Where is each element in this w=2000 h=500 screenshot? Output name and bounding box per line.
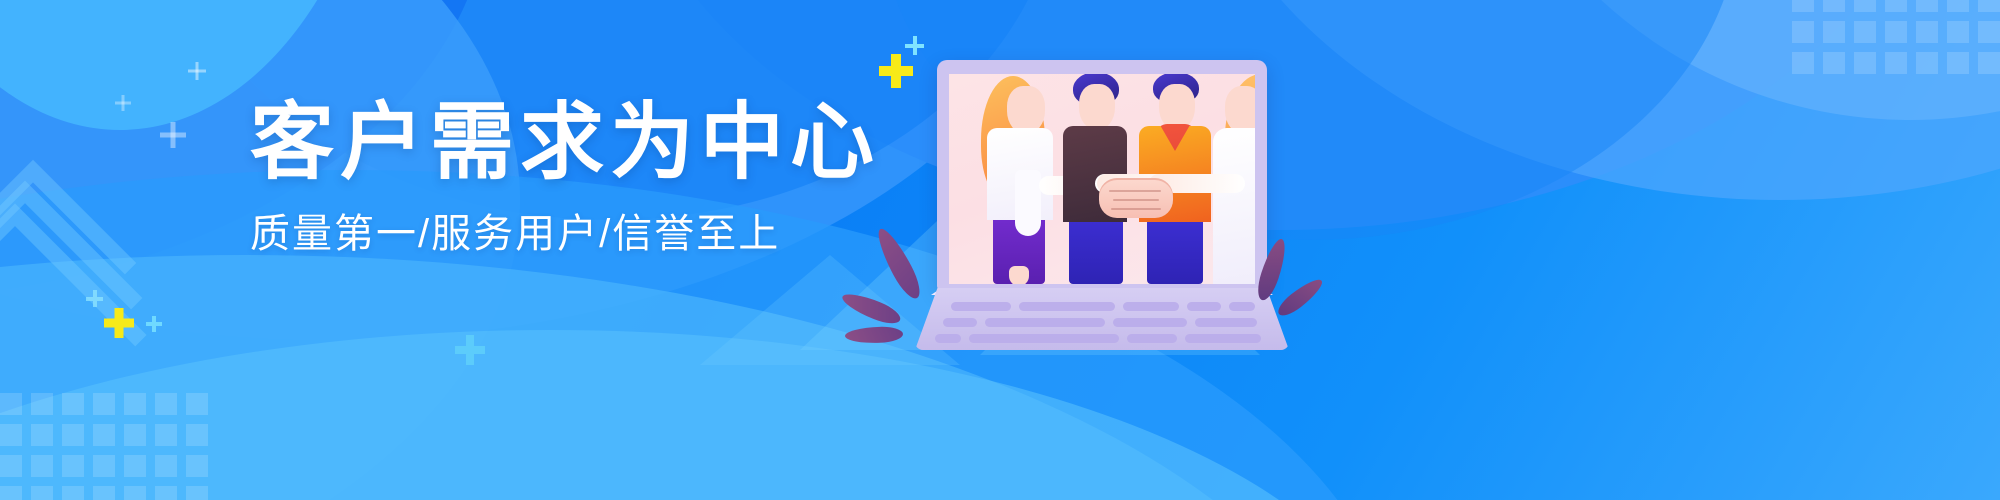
- grid-square: [186, 424, 208, 446]
- grid-square: [155, 486, 177, 500]
- grid-square: [1916, 52, 1938, 74]
- keyboard-key: [1195, 318, 1257, 327]
- banner-headline: 客户需求为中心: [250, 100, 870, 184]
- keyboard-key: [1229, 302, 1255, 311]
- leaf-icon: [845, 326, 904, 344]
- grid-square: [93, 455, 115, 477]
- keyboard-key: [985, 318, 1105, 327]
- grid-square: [1854, 0, 1876, 12]
- grid-square: [62, 393, 84, 415]
- grid-square: [155, 424, 177, 446]
- leaf-icon: [872, 224, 926, 302]
- hand-detail: [1111, 208, 1161, 210]
- grid-square: [62, 486, 84, 500]
- grid-square: [93, 424, 115, 446]
- grid-square: [1947, 0, 1969, 12]
- square-grid-top-right: [1792, 0, 2000, 74]
- person-shirt-tail: [1015, 170, 1041, 236]
- grid-square: [1792, 52, 1814, 74]
- grid-square: [1854, 21, 1876, 43]
- laptop-screen: [949, 74, 1255, 284]
- grid-square: [62, 424, 84, 446]
- keyboard-key: [1187, 302, 1221, 311]
- grid-square: [0, 424, 22, 446]
- grid-square: [1947, 21, 1969, 43]
- grid-square: [93, 486, 115, 500]
- keyboard-key: [1185, 334, 1261, 343]
- laptop-screen-frame: [937, 60, 1267, 290]
- grid-square: [124, 424, 146, 446]
- plus-icon: [879, 54, 913, 88]
- grid-square: [155, 393, 177, 415]
- grid-square: [155, 455, 177, 477]
- grid-square: [186, 455, 208, 477]
- plus-icon: [146, 316, 162, 332]
- keyboard-key: [969, 334, 1119, 343]
- leaf-icon: [1274, 274, 1326, 320]
- plus-icon: [905, 36, 924, 55]
- person-head: [1007, 86, 1045, 134]
- grid-square: [186, 486, 208, 500]
- person-woman-orange-hair: [975, 74, 1063, 284]
- grid-square: [1885, 0, 1907, 12]
- chevron-icon: [0, 181, 142, 416]
- grid-square: [1792, 21, 1814, 43]
- stacked-hands: [1099, 178, 1173, 218]
- keyboard-key: [935, 334, 961, 343]
- grid-square: [31, 455, 53, 477]
- keyboard-key: [943, 318, 977, 327]
- person-woman-blonde-hair: [1203, 74, 1255, 284]
- grid-square: [186, 393, 208, 415]
- person-head: [1079, 84, 1115, 130]
- grid-square: [93, 393, 115, 415]
- grid-square: [124, 486, 146, 500]
- plus-icon: [86, 290, 103, 307]
- hand-detail: [1109, 190, 1161, 192]
- grid-square: [0, 393, 22, 415]
- wave-shape: [0, 330, 1400, 500]
- plus-icon: [115, 95, 131, 111]
- laptop-teamwork-illustration: [915, 60, 1335, 350]
- grid-square: [1947, 52, 1969, 74]
- grid-square: [1792, 0, 1814, 12]
- plus-icon: [104, 308, 134, 338]
- hand-detail: [1113, 199, 1159, 201]
- grid-square: [1885, 52, 1907, 74]
- plus-icon: [455, 335, 485, 365]
- grid-square: [1916, 21, 1938, 43]
- keyboard-key: [1123, 302, 1179, 311]
- plus-icon: [160, 122, 186, 148]
- grid-square: [1978, 0, 2000, 12]
- plus-icon: [188, 62, 206, 80]
- banner-text-block: 客户需求为中心 质量第一/服务用户/信誉至上: [250, 100, 870, 254]
- leaf-icon: [839, 288, 903, 328]
- promo-banner: 客户需求为中心 质量第一/服务用户/信誉至上: [0, 0, 2000, 500]
- keyboard-key: [1019, 302, 1115, 311]
- square-grid-bottom-left: [0, 393, 208, 500]
- keyboard-key: [1127, 334, 1177, 343]
- person-foot: [1009, 266, 1029, 284]
- grid-square: [0, 455, 22, 477]
- banner-subtitle: 质量第一/服务用户/信誉至上: [250, 214, 870, 254]
- grid-square: [1823, 52, 1845, 74]
- grid-square: [31, 393, 53, 415]
- grid-square: [0, 486, 22, 500]
- grid-square: [124, 393, 146, 415]
- grid-square: [1978, 52, 2000, 74]
- keyboard-key: [1113, 318, 1187, 327]
- grid-square: [1885, 21, 1907, 43]
- grid-square: [31, 486, 53, 500]
- grid-square: [1916, 0, 1938, 12]
- grid-square: [124, 455, 146, 477]
- grid-square: [31, 424, 53, 446]
- keyboard-key: [951, 302, 1011, 311]
- person-head: [1225, 86, 1255, 134]
- grid-square: [1823, 21, 1845, 43]
- grid-square: [1823, 0, 1845, 12]
- laptop-base: [915, 288, 1289, 350]
- grid-square: [62, 455, 84, 477]
- grid-square: [1854, 52, 1876, 74]
- person-dress: [1213, 128, 1255, 284]
- grid-square: [1978, 21, 2000, 43]
